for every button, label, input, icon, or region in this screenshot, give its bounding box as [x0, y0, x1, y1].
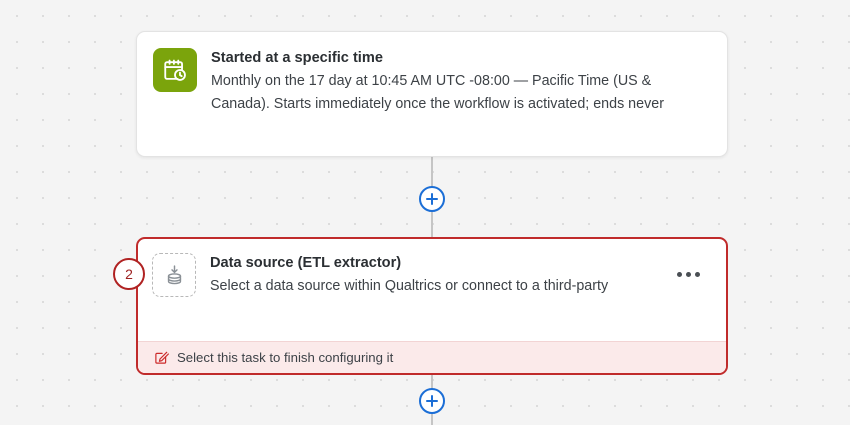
task-title: Data source (ETL extractor)	[210, 254, 640, 274]
ellipsis-horizontal-icon[interactable]	[673, 268, 704, 281]
workflow-node-task[interactable]: Data source (ETL extractor) Select a dat…	[136, 237, 728, 375]
add-step-button-2[interactable]	[419, 388, 445, 414]
workflow-canvas: Started at a specific time Monthly on th…	[0, 0, 850, 425]
add-step-button-1[interactable]	[419, 186, 445, 212]
workflow-node-trigger[interactable]: Started at a specific time Monthly on th…	[136, 31, 728, 157]
calendar-clock-icon	[153, 48, 197, 92]
task-card-body: Data source (ETL extractor) Select a dat…	[138, 239, 726, 341]
task-error-message: Select this task to finish configuring i…	[177, 349, 393, 366]
trigger-text-column: Started at a specific time Monthly on th…	[211, 48, 711, 116]
task-description: Select a data source within Qualtrics or…	[210, 275, 640, 298]
step-number-badge: 2	[113, 258, 145, 290]
edit-square-icon	[154, 350, 169, 365]
task-error-banner: Select this task to finish configuring i…	[138, 341, 726, 373]
ellipsis-dot	[677, 272, 682, 277]
trigger-description: Monthly on the 17 day at 10:45 AM UTC -0…	[211, 70, 711, 116]
ellipsis-dot	[695, 272, 700, 277]
trigger-title: Started at a specific time	[211, 49, 711, 69]
database-extract-icon	[152, 253, 196, 297]
trigger-card-body: Started at a specific time Monthly on th…	[137, 32, 727, 130]
ellipsis-dot	[686, 272, 691, 277]
task-text-column: Data source (ETL extractor) Select a dat…	[210, 253, 640, 298]
